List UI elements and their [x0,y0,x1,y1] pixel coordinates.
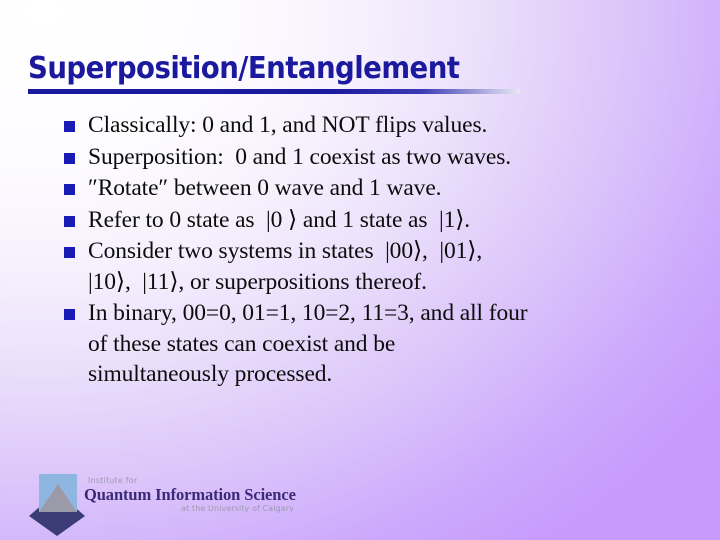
list-item: Refer to 0 state as |0 ⟩ and 1 state as … [64,205,688,236]
list-item-label: Refer to 0 state as |0 ⟩ and 1 state as … [88,205,688,236]
logo-text-block: Institute for Quantum Information Scienc… [84,476,296,514]
list-item-label: In binary, 00=0, 01=1, 10=2, 11=3, and a… [88,298,688,390]
logo-institute-label: Institute for [84,476,296,485]
square-bullet-icon [64,236,88,258]
square-bullet-icon [64,142,88,164]
title-block: Superposition/Entanglement [28,52,692,94]
square-bullet-icon [64,205,88,227]
title-underline-rule [28,89,520,94]
page-title: Superposition/Entanglement [28,52,639,86]
slide-canvas: Superposition/Entanglement Classically: … [0,0,720,540]
list-item-label: Superposition: 0 and 1 coexist as two wa… [88,142,688,173]
bullet-list: Classically: 0 and 1, and NOT flips valu… [64,110,688,391]
list-item-label: ″Rotate″ between 0 wave and 1 wave. [88,173,688,204]
list-item: Consider two systems in states |00⟩, |01… [64,236,688,297]
list-item: ″Rotate″ between 0 wave and 1 wave. [64,173,688,204]
list-item-label: Consider two systems in states |00⟩, |01… [88,236,688,297]
logo-name-label: Quantum Information Science [84,485,296,504]
list-item: Classically: 0 and 1, and NOT flips valu… [64,110,688,141]
square-bullet-icon [64,110,88,132]
square-bullet-icon [64,173,88,195]
institute-logo: Institute for Quantum Information Scienc… [26,470,294,536]
list-item: Superposition: 0 and 1 coexist as two wa… [64,142,688,173]
square-bullet-icon [64,298,88,320]
list-item-label: Classically: 0 and 1, and NOT flips valu… [88,110,688,141]
logo-mark-icon [26,472,88,536]
logo-affiliation-label: at the University of Calgary [84,504,296,514]
list-item: In binary, 00=0, 01=1, 10=2, 11=3, and a… [64,298,688,390]
